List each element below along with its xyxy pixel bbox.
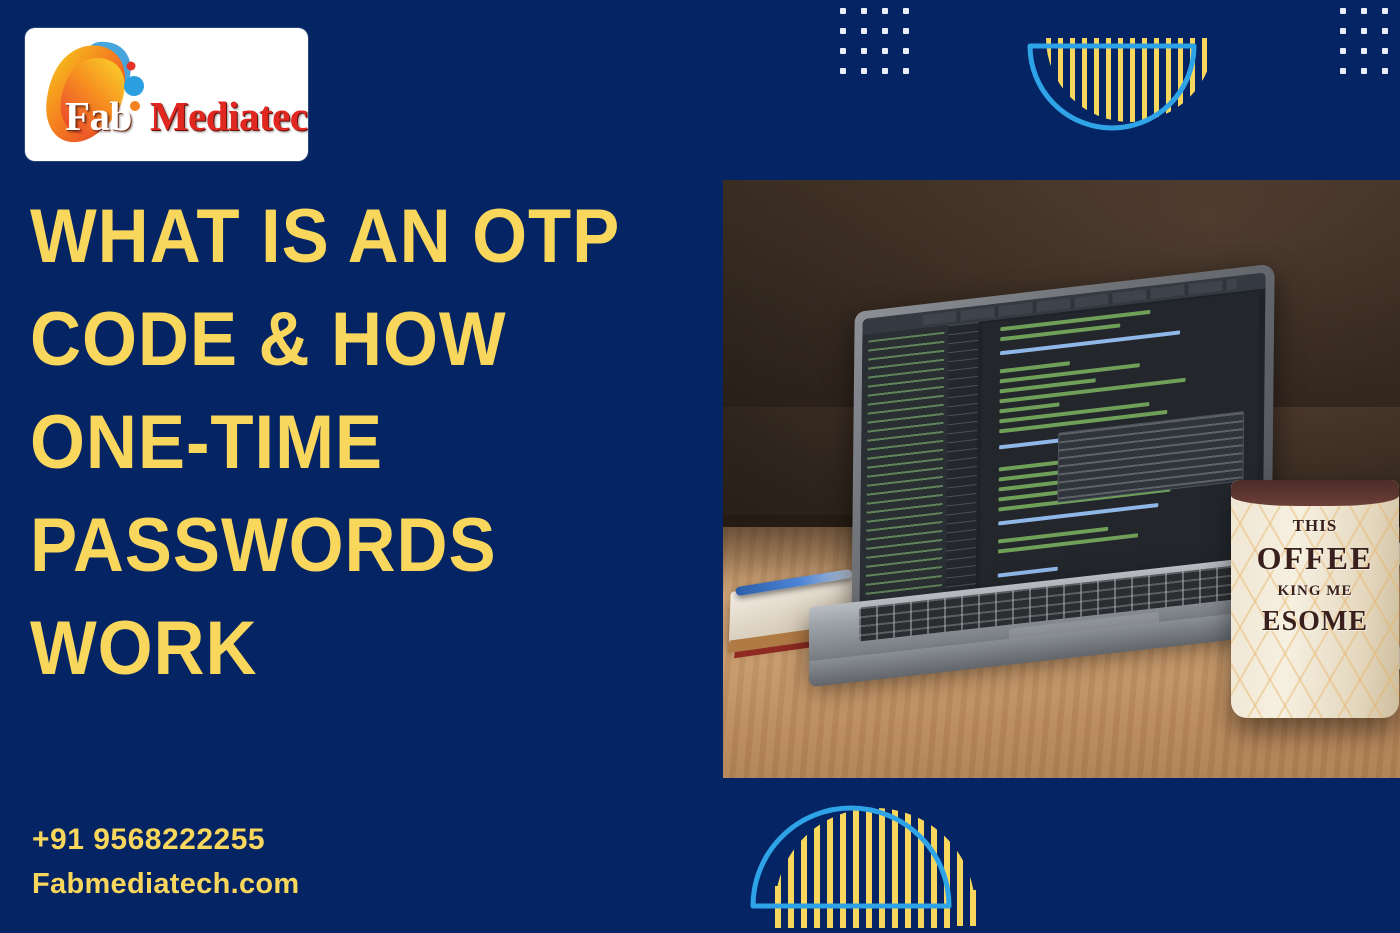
mug-text-line-4: ESOME [1231,604,1399,640]
grid-dot [861,48,867,54]
grid-dot [840,48,846,54]
mug-text: THIS OFFEE KING ME ESOME [1231,514,1399,640]
contact-website[interactable]: Fabmediatech.com [32,862,300,906]
page-title: WHAT IS AN OTP CODE & HOW ONE-TIME PASSW… [30,185,644,700]
photo-coffee-mug: THIS OFFEE KING ME ESOME [1231,480,1399,718]
ide-tooltip-popup [1057,411,1244,503]
contact-phone[interactable]: +91 9568222255 [32,818,300,862]
grid-dot [1340,68,1346,74]
striped-semicircle-bottom [735,778,1005,933]
grid-dot [882,48,888,54]
logo-word-fab: Fab [65,93,132,139]
headline-line-1: WHAT IS AN OTP [30,185,644,288]
ide-line-numbers [946,322,979,594]
grid-dot [903,8,909,14]
grid-dot [882,68,888,74]
ide-project-tree [860,325,949,603]
headline-line-3: ONE-TIME [30,391,644,494]
grid-dot [903,48,909,54]
mug-rim [1231,480,1399,506]
grid-dot [861,8,867,14]
grid-dot [1361,28,1367,34]
ide-tree-rows [866,332,945,597]
grid-dot [1382,48,1388,54]
logo-word-mediatech: Mediatech [150,93,308,139]
logo-inner: FabMediatech [25,28,308,161]
grid-dot [1340,28,1346,34]
poster-canvas: FabMediatech WHAT IS AN OTP CODE & HOW O… [0,0,1400,933]
headline-line-2: CODE & HOW [30,288,644,391]
grid-dot [840,8,846,14]
headline-line-4: PASSWORDS [30,494,644,597]
grid-dot [1382,68,1388,74]
dot-grid-top [840,8,910,74]
grid-dot [861,68,867,74]
grid-dot [1361,8,1367,14]
mug-text-line-3: KING ME [1231,578,1399,604]
dot-grid-corner [1340,8,1400,74]
mug-text-line-1: THIS [1231,514,1399,538]
grid-dot [903,28,909,34]
grid-dot [1382,8,1388,14]
grid-dot [840,68,846,74]
mug-text-line-2: OFFEE [1231,538,1399,578]
grid-dot [840,28,846,34]
grid-dot [1361,48,1367,54]
grid-dot [861,28,867,34]
grid-dot [1361,68,1367,74]
headline-line-5: WORK [30,597,644,700]
grid-dot [903,68,909,74]
grid-dot [882,8,888,14]
brand-logo-card[interactable]: FabMediatech [25,28,308,161]
grid-dot [882,28,888,34]
striped-semicircle-top [1018,22,1218,152]
hero-photo: THIS OFFEE KING ME ESOME [723,180,1400,778]
logo-wordmark: FabMediatech [65,90,308,142]
grid-dot [1340,48,1346,54]
grid-dot [1340,8,1346,14]
grid-dot [1382,28,1388,34]
ide-code-area [980,291,1260,589]
contact-block: +91 9568222255 Fabmediatech.com [32,818,300,906]
